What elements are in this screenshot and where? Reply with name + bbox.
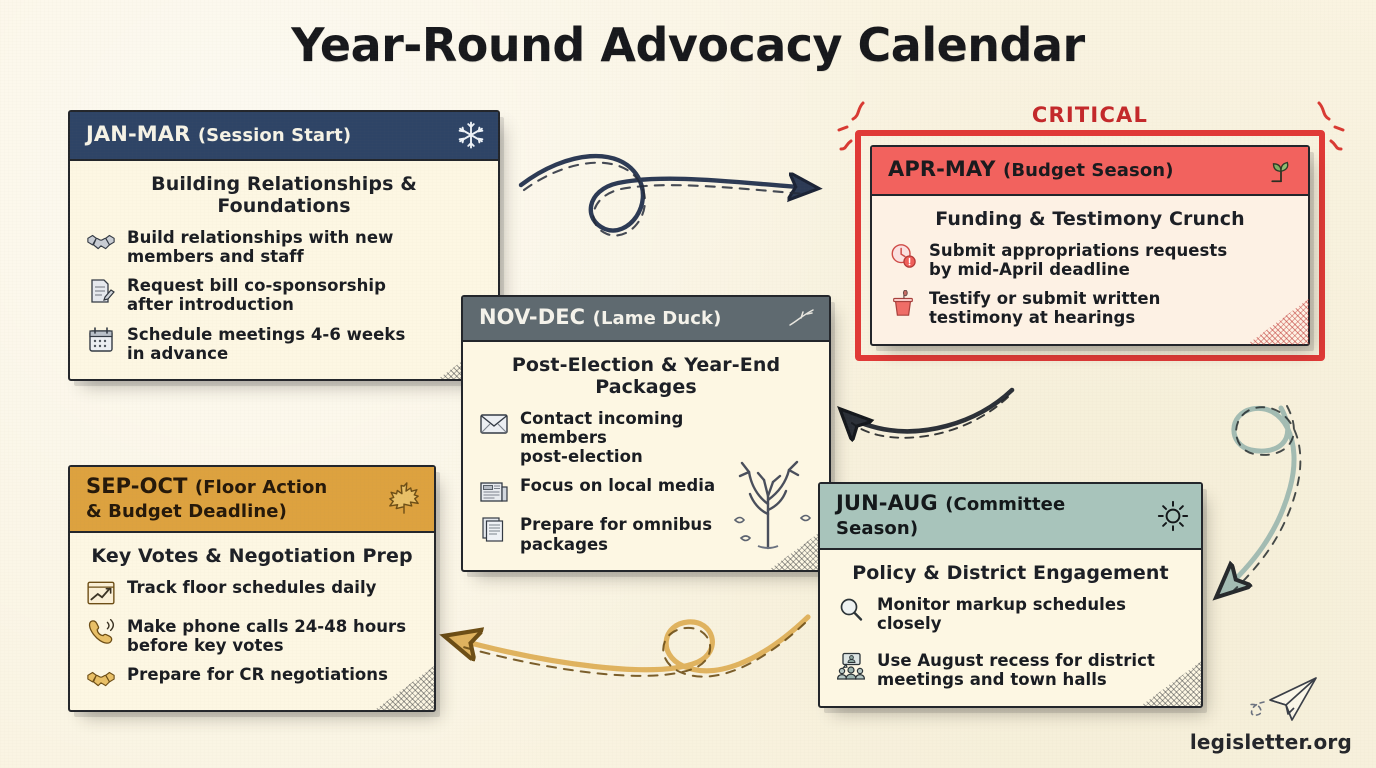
bullet-text: Focus on local media bbox=[520, 476, 715, 495]
bullet-text: Contact incoming members post-election bbox=[520, 409, 741, 466]
maple-leaf-icon bbox=[386, 481, 422, 517]
card-jun-aug[interactable]: JUN-AUG (Committee Season) Policy & Dist… bbox=[818, 482, 1203, 708]
bullet-text: Prepare for CR negotiations bbox=[127, 665, 388, 684]
footer-url: legisletter.org bbox=[1190, 730, 1352, 754]
paper-plane-icon bbox=[1212, 670, 1330, 730]
card-header-sep-oct: SEP-OCT (Floor Action & Budget Deadline) bbox=[70, 467, 434, 533]
handshake-icon bbox=[86, 666, 116, 694]
arrow-jun-to-sep bbox=[452, 617, 808, 677]
card-body-jan-mar: Building Relationships & Foundations Bui… bbox=[70, 161, 498, 379]
arrow-apr-to-jun bbox=[1222, 406, 1300, 595]
card-subtitle-jun-aug: Policy & District Engagement bbox=[836, 562, 1185, 584]
bullet-item: Focus on local media bbox=[479, 476, 741, 505]
handshake-icon bbox=[86, 229, 116, 257]
card-subtitle-nov-dec: Post-Election & Year-End Packages bbox=[479, 354, 813, 398]
calendar-icon bbox=[86, 326, 116, 354]
bullet-item: Make phone calls 24-48 hours before key … bbox=[86, 617, 418, 655]
bullet-list-jun-aug: Monitor markup schedules closely bbox=[836, 595, 1185, 690]
card-nov-dec[interactable]: NOV-DEC (Lame Duck) Post-Election & Year… bbox=[461, 295, 831, 572]
chart-trend-icon bbox=[86, 579, 116, 607]
bullet-item: Use August recess for district meetings … bbox=[836, 651, 1185, 689]
phone-call-icon bbox=[86, 618, 116, 646]
bullet-list-sep-oct: Track floor schedules daily Make phone c… bbox=[86, 578, 418, 694]
bullet-item: Contact incoming members post-election bbox=[479, 409, 741, 466]
footer-brand[interactable]: legisletter.org bbox=[1190, 670, 1352, 754]
card-title-nov-dec: NOV-DEC (Lame Duck) bbox=[479, 306, 779, 330]
bullet-text: Prepare for omnibus packages bbox=[520, 515, 712, 553]
card-header-jun-aug: JUN-AUG (Committee Season) bbox=[820, 484, 1201, 550]
bullet-item: Schedule meetings 4-6 weeks in advance bbox=[86, 325, 482, 363]
card-apr-may[interactable]: APR-MAY (Budget Season) Funding & Testim… bbox=[870, 145, 1310, 346]
bullet-text: Build relationships with new members and… bbox=[127, 228, 393, 266]
card-body-sep-oct: Key Votes & Negotiation Prep Track floor… bbox=[70, 533, 434, 710]
bullet-list-apr-may: Submit appropriations requests by mid-Ap… bbox=[888, 241, 1292, 328]
bullet-item: Build relationships with new members and… bbox=[86, 228, 482, 266]
envelope-icon bbox=[479, 410, 509, 438]
bullet-list-jan-mar: Build relationships with new members and… bbox=[86, 228, 482, 363]
bullet-item: Prepare for CR negotiations bbox=[86, 665, 418, 694]
arrow-jan-to-apr bbox=[521, 156, 812, 236]
bullet-item: Submit appropriations requests by mid-Ap… bbox=[888, 241, 1292, 279]
critical-block-apr-may: CRITICAL APR-MAY (Budget Season) bbox=[855, 103, 1325, 361]
card-title-jun-aug: JUN-AUG (Committee Season) bbox=[836, 492, 1149, 539]
document-pen-icon bbox=[86, 277, 116, 305]
documents-stack-icon bbox=[479, 516, 509, 544]
seedling-icon bbox=[1266, 155, 1296, 185]
card-title-apr-may: APR-MAY (Budget Season) bbox=[888, 158, 1258, 182]
bullet-text: Monitor markup schedules closely bbox=[877, 595, 1185, 633]
card-jan-mar[interactable]: JAN-MAR (Session Start) Building Relatio… bbox=[68, 110, 500, 381]
bullet-text: Testify or submit written testimony at h… bbox=[929, 289, 1160, 327]
card-title-sep-oct: SEP-OCT (Floor Action & Budget Deadline) bbox=[86, 475, 378, 522]
bullet-item: Request bill co-sponsorship after introd… bbox=[86, 276, 482, 314]
magnifier-icon bbox=[836, 596, 866, 624]
clock-alert-icon bbox=[888, 242, 918, 270]
newspaper-icon bbox=[479, 477, 509, 505]
infographic-canvas: Year-Round Advocacy Calendar bbox=[0, 0, 1376, 768]
card-header-jan-mar: JAN-MAR (Session Start) bbox=[70, 112, 498, 161]
card-subtitle-jan-mar: Building Relationships & Foundations bbox=[86, 173, 482, 217]
card-body-nov-dec: Post-Election & Year-End Packages Contac… bbox=[463, 342, 829, 570]
podium-icon bbox=[888, 290, 918, 318]
critical-frame: APR-MAY (Budget Season) Funding & Testim… bbox=[855, 130, 1325, 361]
bullet-text: Request bill co-sponsorship after introd… bbox=[127, 276, 386, 314]
card-subtitle-apr-may: Funding & Testimony Crunch bbox=[888, 208, 1292, 230]
page-title: Year-Round Advocacy Calendar bbox=[0, 18, 1376, 72]
card-body-apr-may: Funding & Testimony Crunch Submit approp… bbox=[872, 196, 1308, 344]
card-sep-oct[interactable]: SEP-OCT (Floor Action & Budget Deadline)… bbox=[68, 465, 436, 712]
sun-icon bbox=[1157, 500, 1189, 532]
bullet-text: Schedule meetings 4-6 weeks in advance bbox=[127, 325, 405, 363]
arrow-sep-to-nov bbox=[845, 390, 1012, 438]
bullet-text: Submit appropriations requests by mid-Ap… bbox=[929, 241, 1227, 279]
snowflake-icon bbox=[456, 120, 486, 150]
people-group-icon bbox=[836, 652, 866, 680]
bullet-item: Testify or submit written testimony at h… bbox=[888, 289, 1292, 327]
card-body-jun-aug: Policy & District Engagement Monitor mar… bbox=[820, 550, 1201, 706]
bullet-list-nov-dec: Contact incoming members post-election F… bbox=[479, 409, 741, 554]
bullet-item: Prepare for omnibus packages bbox=[479, 515, 741, 553]
bullet-item: Track floor schedules daily bbox=[86, 578, 418, 607]
card-header-apr-may: APR-MAY (Budget Season) bbox=[872, 147, 1308, 196]
card-title-jan-mar: JAN-MAR (Session Start) bbox=[86, 123, 448, 147]
card-subtitle-sep-oct: Key Votes & Negotiation Prep bbox=[86, 545, 418, 567]
bullet-text: Track floor schedules daily bbox=[127, 578, 376, 597]
card-header-nov-dec: NOV-DEC (Lame Duck) bbox=[463, 297, 829, 342]
critical-badge: CRITICAL bbox=[855, 103, 1325, 127]
bullet-text: Use August recess for district meetings … bbox=[877, 651, 1155, 689]
bullet-item: Monitor markup schedules closely bbox=[836, 595, 1185, 633]
bare-branch-icon bbox=[787, 305, 817, 331]
bullet-text: Make phone calls 24-48 hours before key … bbox=[127, 617, 406, 655]
